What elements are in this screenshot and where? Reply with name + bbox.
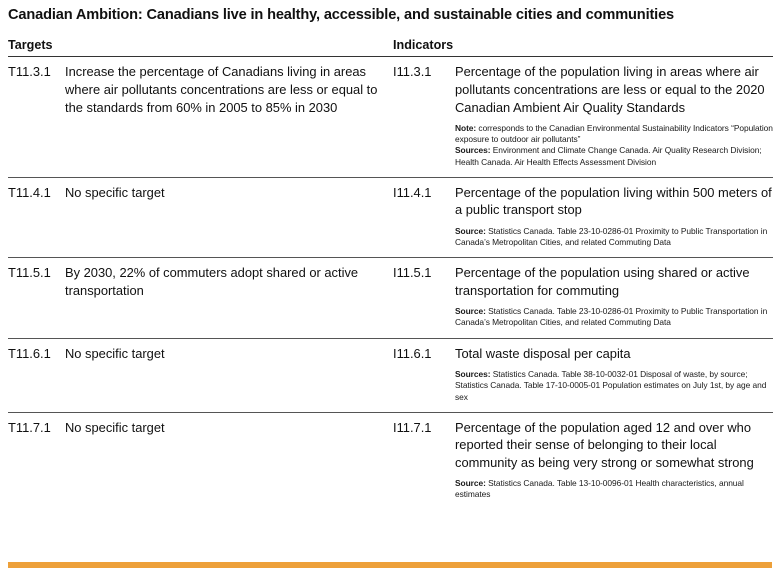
table-row: T11.4.1 No specific target I11.4.1 Perce…: [8, 177, 773, 257]
note-label: Note:: [455, 123, 476, 133]
indicator-description: Percentage of the population living in a…: [455, 57, 773, 177]
source-label: Source:: [455, 226, 486, 236]
indicator-source: Source: Statistics Canada. Table 23-10-0…: [455, 226, 773, 248]
table-row: T11.3.1 Increase the percentage of Canad…: [8, 57, 773, 177]
indicator-description: Percentage of the population living with…: [455, 177, 773, 257]
document-page: Canadian Ambition: Canadians live in hea…: [0, 6, 781, 580]
indicator-source: Source: Statistics Canada. Table 23-10-0…: [455, 306, 773, 328]
target-id: T11.4.1: [8, 177, 65, 257]
indicator-source: Source: Statistics Canada. Table 13-10-0…: [455, 478, 773, 500]
indicator-id: I11.7.1: [393, 412, 455, 509]
bottom-accent-rule: [8, 562, 772, 568]
table-row: T11.5.1 By 2030, 22% of commuters adopt …: [8, 258, 773, 338]
table-row: T11.6.1 No specific target I11.6.1 Total…: [8, 338, 773, 412]
indicator-id: I11.6.1: [393, 338, 455, 412]
target-description-text: No specific target: [65, 345, 393, 363]
target-description: No specific target: [65, 177, 393, 257]
indicator-fineprint: Source: Statistics Canada. Table 23-10-0…: [455, 306, 773, 328]
indicator-fineprint: Sources: Statistics Canada. Table 38-10-…: [455, 369, 773, 403]
indicator-description-text: Percentage of the population living in a…: [455, 63, 773, 116]
target-description-text: No specific target: [65, 184, 393, 202]
indicator-description: Percentage of the population using share…: [455, 258, 773, 338]
indicator-id: I11.5.1: [393, 258, 455, 338]
source-label: Source:: [455, 306, 486, 316]
indicator-description: Percentage of the population aged 12 and…: [455, 412, 773, 509]
indicator-note: Note: corresponds to the Canadian Enviro…: [455, 123, 773, 145]
target-description: Increase the percentage of Canadians liv…: [65, 57, 393, 177]
source-label: Source:: [455, 478, 486, 488]
indicator-source: Sources: Statistics Canada. Table 38-10-…: [455, 369, 773, 403]
indicator-description: Total waste disposal per capita Sources:…: [455, 338, 773, 412]
indicator-id: I11.4.1: [393, 177, 455, 257]
targets-indicators-table: Targets Indicators T11.3.1 Increase the …: [8, 38, 773, 509]
target-id: T11.6.1: [8, 338, 65, 412]
target-id: T11.7.1: [8, 412, 65, 509]
source-label: Sources:: [455, 369, 490, 379]
indicator-description-text: Percentage of the population using share…: [455, 264, 773, 299]
target-description-text: By 2030, 22% of commuters adopt shared o…: [65, 264, 393, 299]
indicator-description-text: Percentage of the population living with…: [455, 184, 773, 219]
source-text: Statistics Canada. Table 23-10-0286-01 P…: [455, 306, 767, 327]
page-title: Canadian Ambition: Canadians live in hea…: [8, 6, 748, 25]
note-text: corresponds to the Canadian Environmenta…: [455, 123, 773, 144]
target-description: By 2030, 22% of commuters adopt shared o…: [65, 258, 393, 338]
table-header: Targets Indicators: [8, 38, 773, 57]
table-row: T11.7.1 No specific target I11.7.1 Perce…: [8, 412, 773, 509]
column-header-targets: Targets: [8, 38, 393, 57]
indicator-fineprint: Source: Statistics Canada. Table 23-10-0…: [455, 226, 773, 248]
source-text: Statistics Canada. Table 23-10-0286-01 P…: [455, 226, 767, 247]
indicator-source: Sources: Environment and Climate Change …: [455, 145, 773, 167]
source-text: Statistics Canada. Table 13-10-0096-01 H…: [455, 478, 744, 499]
source-label: Sources:: [455, 145, 490, 155]
source-text: Environment and Climate Change Canada. A…: [455, 145, 762, 166]
target-id: T11.5.1: [8, 258, 65, 338]
table-header-row: Targets Indicators: [8, 38, 773, 57]
indicator-description-text: Percentage of the population aged 12 and…: [455, 419, 773, 472]
indicator-fineprint: Source: Statistics Canada. Table 13-10-0…: [455, 478, 773, 500]
table-body: T11.3.1 Increase the percentage of Canad…: [8, 57, 773, 510]
target-description: No specific target: [65, 412, 393, 509]
target-description-text: Increase the percentage of Canadians liv…: [65, 63, 393, 116]
indicator-fineprint: Note: corresponds to the Canadian Enviro…: [455, 123, 773, 168]
indicator-id: I11.3.1: [393, 57, 455, 177]
target-description-text: No specific target: [65, 419, 393, 437]
target-description: No specific target: [65, 338, 393, 412]
indicator-description-text: Total waste disposal per capita: [455, 345, 773, 363]
source-text: Statistics Canada. Table 38-10-0032-01 D…: [455, 369, 766, 401]
target-id: T11.3.1: [8, 57, 65, 177]
column-header-indicators: Indicators: [393, 38, 773, 57]
